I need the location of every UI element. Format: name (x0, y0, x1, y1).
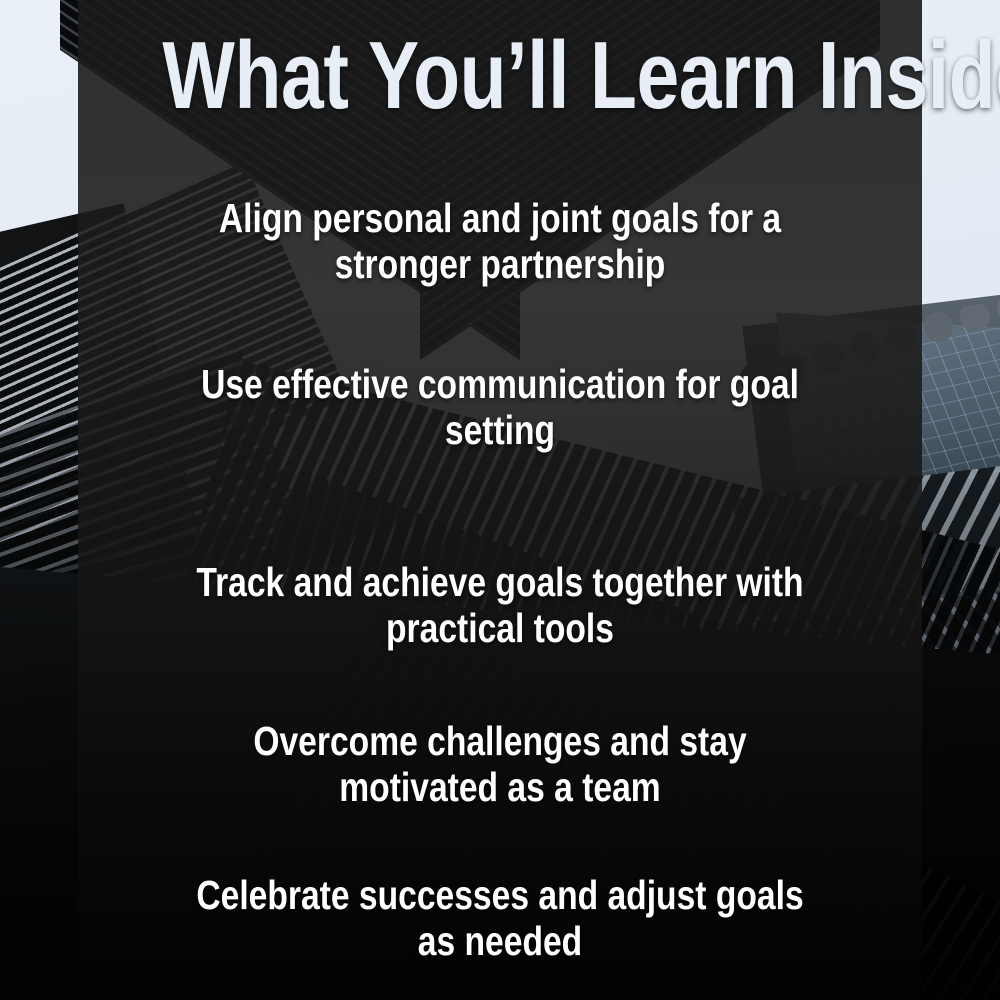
list-item: Track and achieve goals together with pr… (187, 560, 813, 652)
poster: What You’ll Learn Inside Align personal … (0, 0, 1000, 1000)
poster-content: What You’ll Learn Inside Align personal … (78, 0, 922, 1000)
list-item: Use effective communication for goal set… (187, 362, 813, 454)
page-title: What You’ll Learn Inside (162, 28, 837, 124)
learning-points-list: Align personal and joint goals for a str… (118, 196, 882, 965)
list-item: Align personal and joint goals for a str… (187, 196, 813, 288)
list-item: Celebrate successes and adjust goals as … (187, 873, 813, 965)
list-item: Overcome challenges and stay motivated a… (187, 719, 813, 811)
